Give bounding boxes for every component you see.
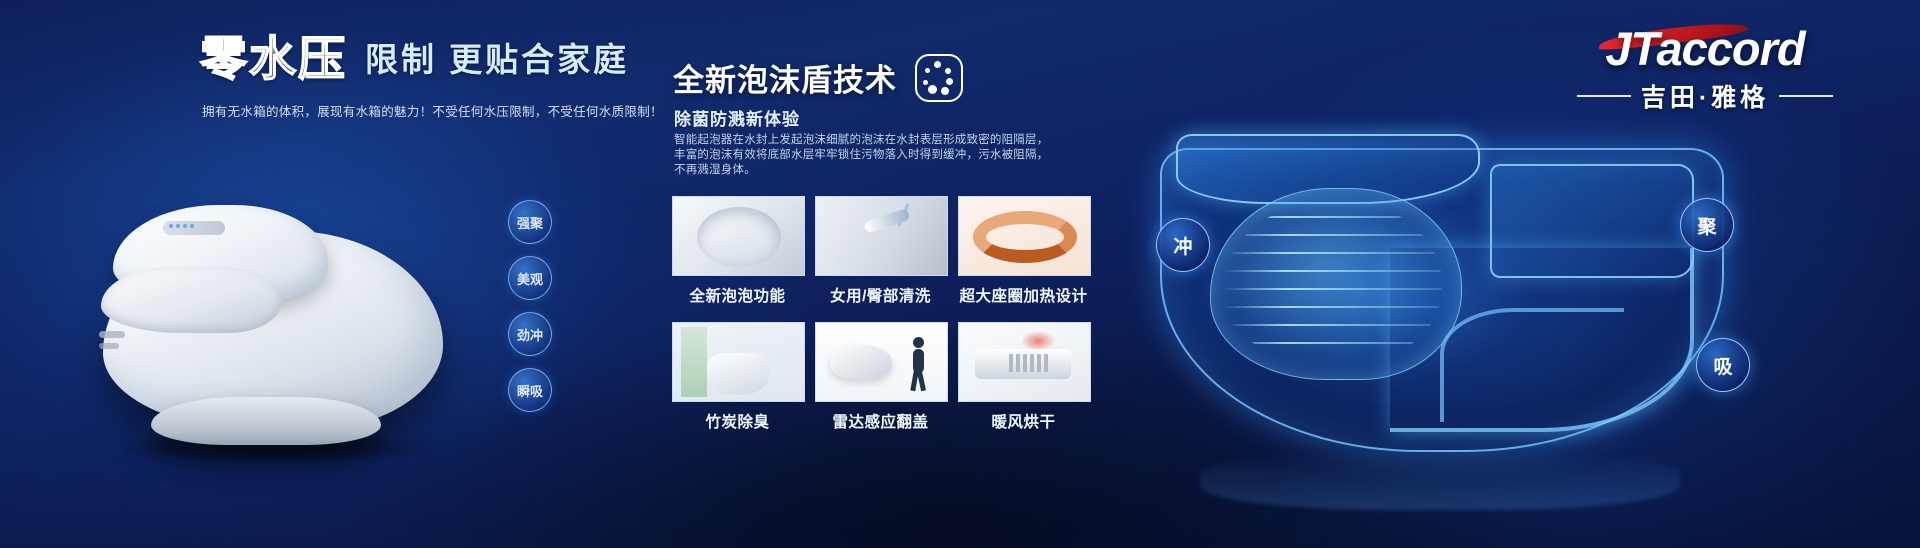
feature-row-1: 全新泡泡功能 女用/臀部清洗 超大座圈加热设计 bbox=[672, 196, 1092, 318]
badge-qiangju[interactable]: 强聚 bbox=[508, 200, 552, 244]
badge-shunxi[interactable]: 瞬吸 bbox=[508, 368, 552, 412]
feature-row-2: 竹炭除臭 雷达感应翻盖 bbox=[672, 322, 1092, 432]
paragraph-line: 不再溅湿身体。 bbox=[674, 163, 1004, 178]
left-product-illustration bbox=[95, 135, 475, 465]
bamboo-charcoal-deodorize-thumb[interactable] bbox=[672, 322, 805, 402]
left-badge-column: 强聚 美观 劲冲 瞬吸 bbox=[508, 200, 552, 424]
badge-meiguan[interactable]: 美观 bbox=[508, 256, 552, 300]
toilet-bowl-foam-thumb[interactable] bbox=[672, 196, 805, 276]
middle-subtitle: 除菌防溅新体验 bbox=[674, 105, 800, 130]
hero-title-sub: 限制 更贴合家庭 bbox=[365, 40, 629, 80]
feature-grid: 全新泡泡功能 女用/臀部清洗 超大座圈加热设计 bbox=[672, 196, 1092, 436]
badge-xi[interactable]: 吸 bbox=[1696, 338, 1750, 392]
badge-ju[interactable]: 聚 bbox=[1680, 198, 1734, 252]
logo-wordmark: JTaccord bbox=[1605, 24, 1804, 74]
feature-caption: 雷达感应翻盖 bbox=[815, 410, 946, 432]
side-button-upper bbox=[99, 331, 125, 338]
brand-logo[interactable]: JTaccord 吉田·雅格 bbox=[1550, 24, 1860, 114]
badge-jinchong[interactable]: 劲冲 bbox=[508, 312, 552, 356]
person-silhouette-icon bbox=[905, 337, 931, 391]
feature-cell-heated-seat[interactable]: 超大座圈加热设计 bbox=[958, 196, 1089, 318]
paragraph-line: 丰富的泡沫有效将底部水层牢牢锁住污物落入时得到缓冲，污水被阻隔， bbox=[674, 148, 1004, 163]
logo-wordmark-group: JTaccord bbox=[1605, 24, 1804, 74]
badge-label: 强聚 bbox=[517, 213, 543, 232]
feature-cell-dryer[interactable]: 暖风烘干 bbox=[958, 322, 1089, 432]
toilet-base bbox=[151, 397, 381, 445]
left-panel: 零水压 限制 更贴合家庭 拥有无水箱的体积，展现有水箱的魅力！不受任何水压限制，… bbox=[0, 0, 640, 548]
feature-caption: 暖风烘干 bbox=[958, 410, 1089, 432]
xray-reflection bbox=[1200, 450, 1680, 510]
feature-caption: 竹炭除臭 bbox=[672, 410, 803, 432]
middle-heading-row: 全新泡沫盾技术 bbox=[673, 52, 963, 102]
side-button-lower bbox=[99, 343, 119, 349]
xray-toilet-cutaway: 冲 聚 吸 bbox=[1140, 128, 1740, 528]
middle-paragraph: 智能起泡器在水封上发起泡沫细腻的泡沫在水封表层形成致密的阻隔层， 丰富的泡沫有效… bbox=[674, 133, 1004, 178]
xray-secondary-pipe bbox=[1440, 308, 1624, 422]
badge-label: 劲冲 bbox=[517, 325, 543, 344]
heated-seat-ring-thumb[interactable] bbox=[958, 196, 1091, 276]
badge-label: 吸 bbox=[1713, 352, 1732, 379]
vent-grille-icon bbox=[1009, 354, 1048, 372]
spray-nozzle-thumb[interactable] bbox=[815, 196, 948, 276]
badge-label: 聚 bbox=[1697, 212, 1716, 239]
feature-caption: 全新泡泡功能 bbox=[672, 284, 803, 306]
control-panel-indicator-icon bbox=[169, 224, 194, 228]
badge-label: 冲 bbox=[1173, 232, 1192, 259]
right-panel: JTaccord 吉田·雅格 冲 bbox=[1130, 0, 1920, 548]
feature-caption: 女用/臀部清洗 bbox=[815, 284, 946, 306]
logo-rule-left bbox=[1577, 95, 1631, 97]
feature-caption: 超大座圈加热设计 bbox=[958, 284, 1089, 306]
middle-title: 全新泡沫盾技术 bbox=[673, 55, 897, 100]
hero-title-main: 零水压 bbox=[200, 34, 351, 84]
logo-chinese-name: 吉田·雅格 bbox=[1641, 78, 1769, 114]
hero-description: 拥有无水箱的体积，展现有水箱的魅力！不受任何水压限制，不受任何水质限制！ bbox=[202, 104, 632, 120]
middle-panel: 全新泡沫盾技术 除菌防溅新体验 智能起泡器在水封上发起泡沫细腻的泡沫在水封表层形… bbox=[660, 0, 1130, 548]
paragraph-line: 智能起泡器在水封上发起泡沫细腻的泡沫在水封表层形成致密的阻隔层， bbox=[674, 133, 1004, 148]
feature-cell-deodorize[interactable]: 竹炭除臭 bbox=[672, 322, 803, 432]
warm-air-dryer-thumb[interactable] bbox=[958, 322, 1091, 402]
feature-cell-wash[interactable]: 女用/臀部清洗 bbox=[815, 196, 946, 318]
feature-cell-foam[interactable]: 全新泡泡功能 bbox=[672, 196, 803, 318]
feature-cell-radar-lid[interactable]: 雷达感应翻盖 bbox=[815, 322, 946, 432]
hero-title-row: 零水压 限制 更贴合家庭 bbox=[200, 34, 629, 84]
badge-label: 美观 bbox=[517, 269, 543, 288]
badge-chong[interactable]: 冲 bbox=[1156, 218, 1210, 272]
logo-chinese-row: 吉田·雅格 bbox=[1550, 78, 1860, 114]
logo-rule-right bbox=[1779, 95, 1833, 97]
toilet-seat bbox=[101, 267, 281, 333]
banner-stage: 零水压 限制 更贴合家庭 拥有无水箱的体积，展现有水箱的魅力！不受任何水压限制，… bbox=[0, 0, 1920, 548]
radar-sensor-lid-thumb[interactable] bbox=[815, 322, 948, 402]
badge-label: 瞬吸 bbox=[517, 381, 543, 400]
foam-bubbles-icon bbox=[915, 54, 963, 102]
